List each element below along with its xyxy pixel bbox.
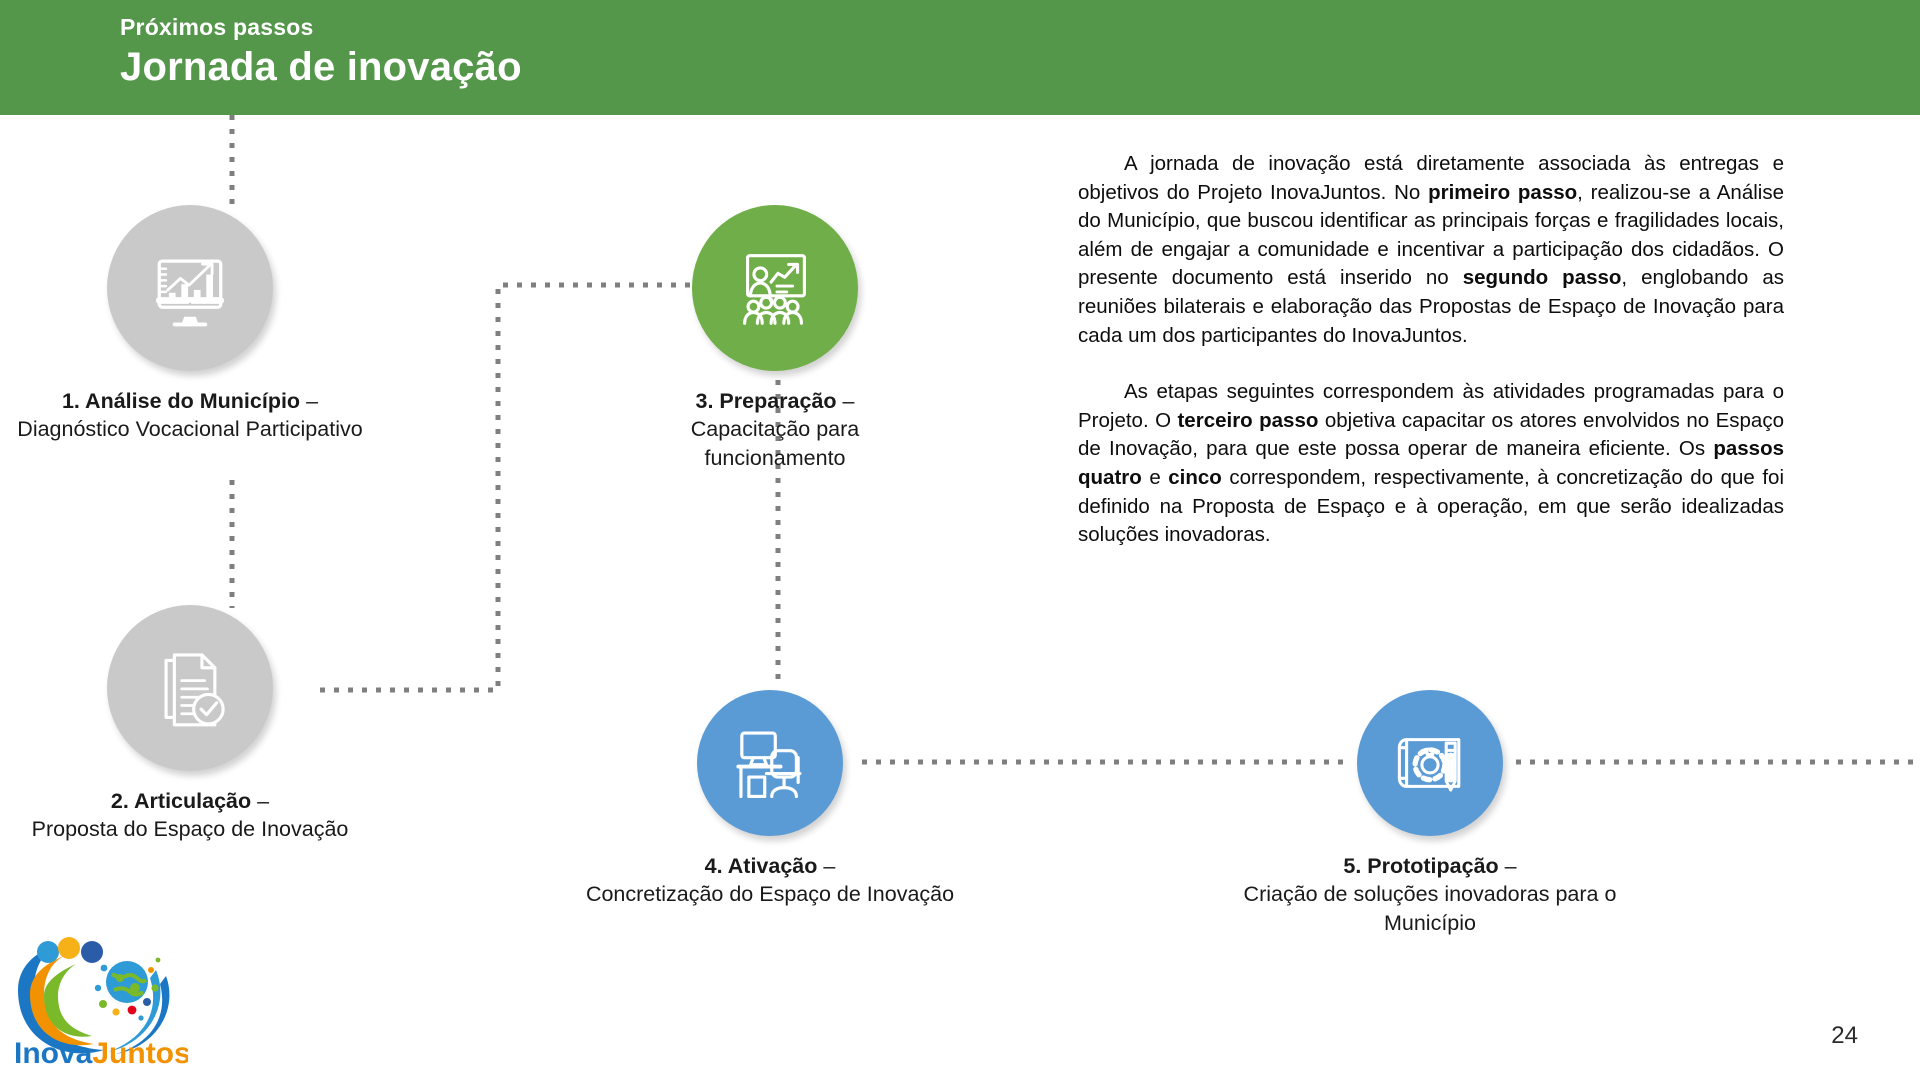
step-4-label: 4. Ativação – Concretização do Espaço de… [560,852,980,909]
step-1-title: 1. Análise do Município [62,389,300,413]
logo-text-primary: InovaJuntos [14,1037,188,1070]
logo: InovaJuntos [8,930,188,1070]
step-4-description: Concretização do Espaço de Inovação [586,882,954,906]
step-5-label: 5. Prototipação – Criação de soluções in… [1220,852,1640,937]
step-node-3[interactable]: 3. Preparação – Capacitação para funcion… [625,205,925,472]
document-check-icon [144,642,236,734]
workstation-desk-icon [726,719,814,807]
paragraph-1: A jornada de inovação está diretamente a… [1078,150,1784,350]
step-5-title: 5. Prototipação [1343,854,1498,878]
step-4-circle [697,690,843,836]
presentation-audience-icon [726,239,824,337]
step-1-description: Diagnóstico Vocacional Participativo [17,417,362,441]
monitor-growth-chart-icon [142,240,238,336]
step-node-5[interactable]: 5. Prototipação – Criação de soluções in… [1220,690,1640,937]
step-node-2[interactable]: 2. Articulação – Proposta do Espaço de I… [0,605,380,844]
blueprint-gear-pencil-icon [1385,718,1475,808]
step-node-4[interactable]: 4. Ativação – Concretização do Espaço de… [560,690,980,909]
step-5-circle [1357,690,1503,836]
step-2-label: 2. Articulação – Proposta do Espaço de I… [0,787,380,844]
step-3-circle [692,205,858,371]
body-text-column: A jornada de inovação está diretamente a… [1078,150,1784,550]
paragraph-2: As etapas seguintes correspondem às ativ… [1078,378,1784,550]
slide: Próximos passos Jornada de inovação [0,0,1920,1080]
step-5-description: Criação de soluções inovadoras para o Mu… [1244,882,1617,934]
logo-text-secondary: Juntos [92,1037,188,1070]
step-3-description: Capacitação para funcionamento [691,417,860,469]
page-number: 24 [1831,1022,1858,1050]
step-4-title: 4. Ativação [705,854,818,878]
step-node-1[interactable]: 1. Análise do Município – Diagnóstico Vo… [15,205,365,444]
step-2-circle [107,605,273,771]
step-1-label: 1. Análise do Município – Diagnóstico Vo… [15,387,365,444]
inovajuntos-logo-icon: InovaJuntos [8,930,188,1070]
step-1-circle [107,205,273,371]
step-3-label: 3. Preparação – Capacitação para funcion… [625,387,925,472]
step-2-description: Proposta do Espaço de Inovação [32,817,349,841]
step-3-title: 3. Preparação [696,389,837,413]
step-2-title: 2. Articulação [111,789,251,813]
